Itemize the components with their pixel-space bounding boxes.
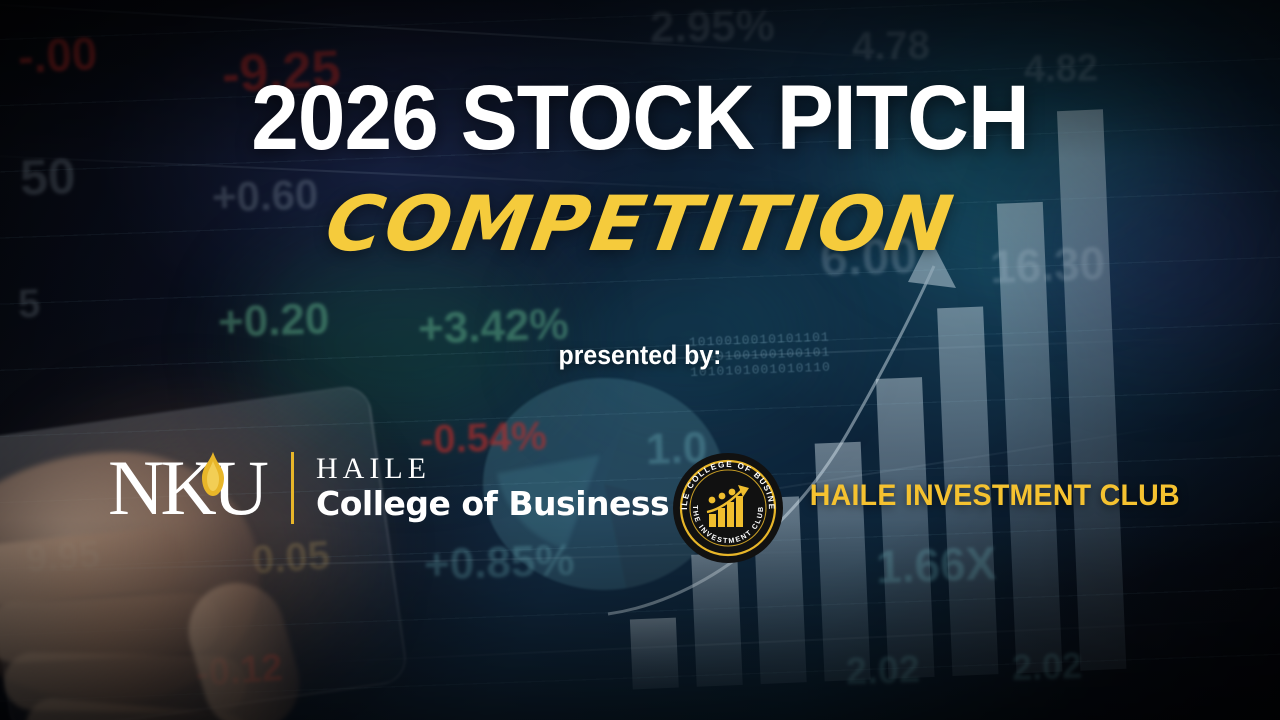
logo-divider bbox=[291, 452, 294, 524]
investment-club-seal: HAILE COLLEGE OF BUSINESS THE INVESTMENT… bbox=[672, 452, 784, 564]
club-name-label: HAILE INVESTMENT CLUB bbox=[810, 479, 1180, 513]
haile-label: HAILE bbox=[316, 452, 669, 485]
page-subtitle: COMPETITION bbox=[0, 186, 1280, 262]
flame-icon bbox=[200, 452, 226, 498]
nku-wordmark: NKU bbox=[108, 454, 265, 521]
presented-by-label: presented by: bbox=[51, 340, 1229, 371]
college-of-business-label: College of Business bbox=[316, 485, 669, 524]
stock-pitch-poster: 1010010010101101 0110100100100101 101010… bbox=[0, 0, 1280, 720]
nku-letters: NKU bbox=[108, 454, 265, 521]
nku-haile-logo: NKU HAILE College of Business bbox=[108, 452, 669, 524]
page-title: 2026 STOCK PITCH bbox=[45, 72, 1235, 164]
